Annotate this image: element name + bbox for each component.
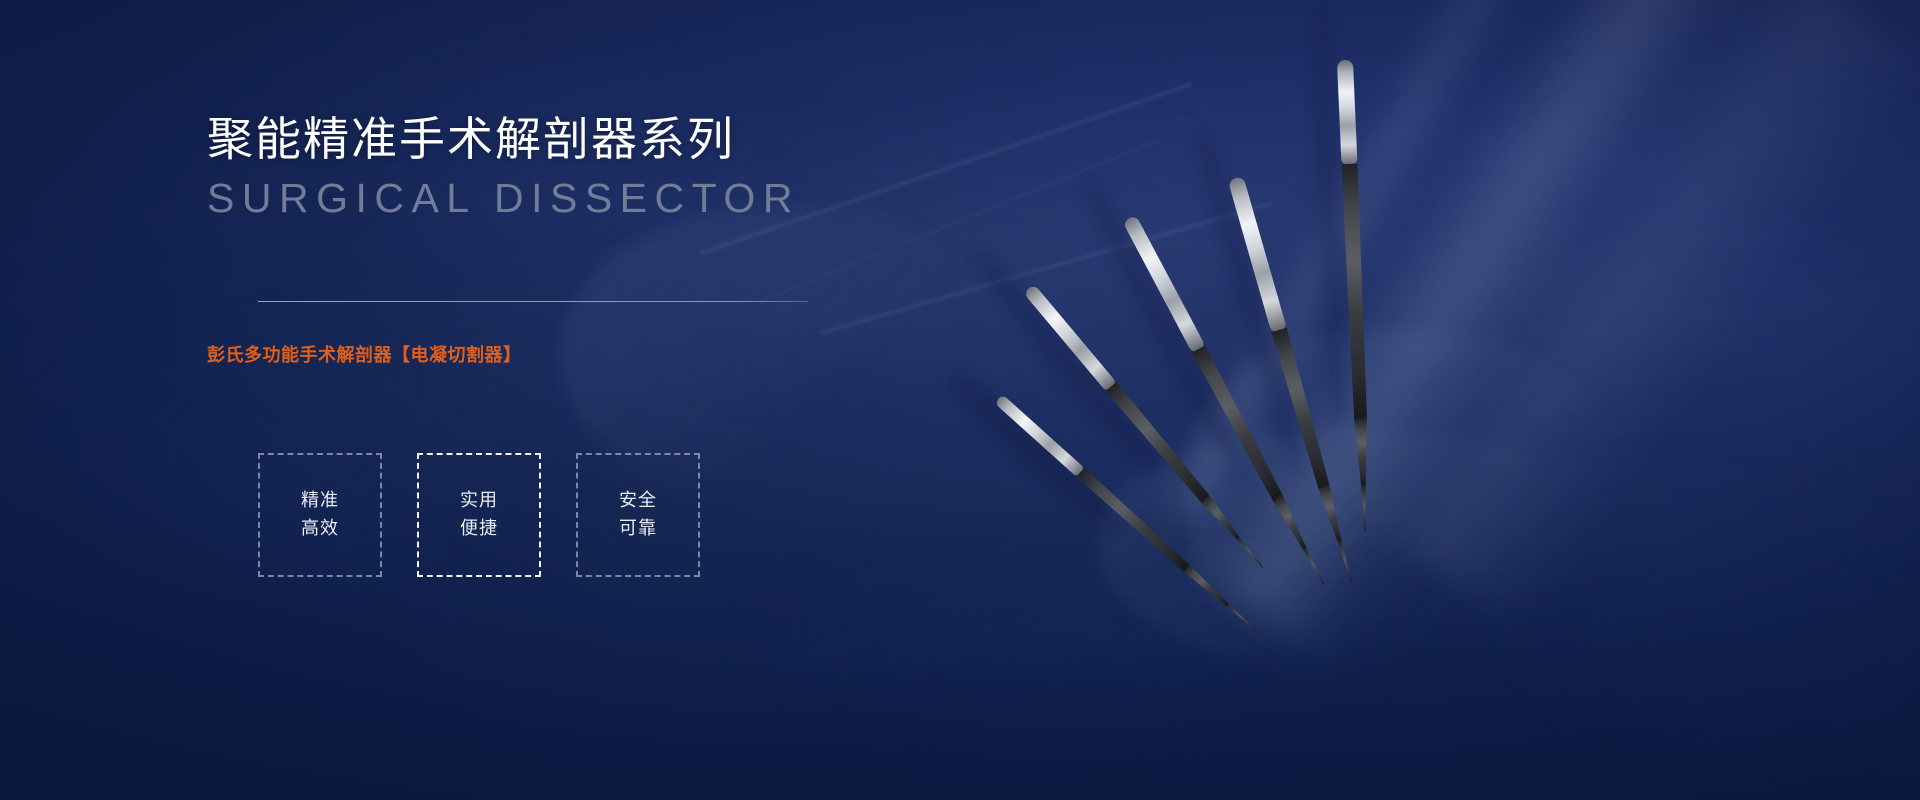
banner-copy: 聚能精准手术解剖器系列 SURGICAL DISSECTOR <box>207 112 1027 221</box>
feature-box-2[interactable]: 实用 便捷 <box>417 453 541 577</box>
feature-box-1-line1: 精准 <box>301 487 339 515</box>
feature-box-2-line2: 便捷 <box>460 515 498 543</box>
product-name-label: 彭氏多功能手术解剖器【电凝切割器】 <box>207 341 522 367</box>
page-title: 聚能精准手术解剖器系列 <box>207 112 1027 166</box>
page-subtitle-en: SURGICAL DISSECTOR <box>207 176 1027 221</box>
feature-box-3[interactable]: 安全 可靠 <box>576 453 700 577</box>
feature-box-3-line2: 可靠 <box>619 515 657 543</box>
hero-banner: 聚能精准手术解剖器系列 SURGICAL DISSECTOR 彭氏多功能手术解剖… <box>0 0 1920 800</box>
feature-box-3-line1: 安全 <box>619 487 657 515</box>
feature-box-2-line1: 实用 <box>460 487 498 515</box>
feature-box-1[interactable]: 精准 高效 <box>258 453 382 577</box>
feature-box-list: 精准 高效 实用 便捷 安全 可靠 <box>258 453 700 577</box>
feature-box-1-line2: 高效 <box>301 515 339 543</box>
title-divider <box>258 301 808 302</box>
